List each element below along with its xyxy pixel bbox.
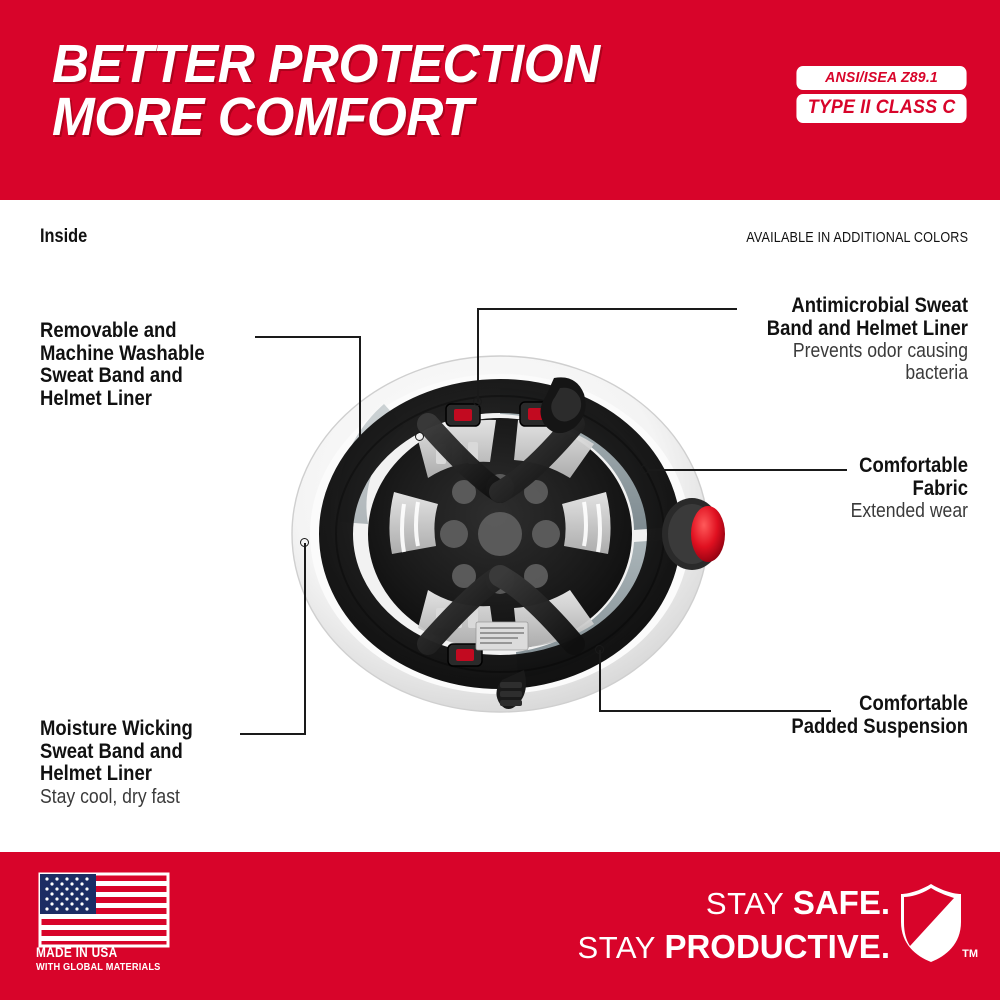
- leader-dot-removable: [415, 432, 424, 441]
- badge-ansi-standard: ANSI/ISEA Z89.1: [796, 66, 966, 90]
- made-in-usa-sublabel: WITH GLOBAL MATERIALS: [36, 962, 168, 973]
- callout-suspension-title: Comfortable Padded Suspension: [651, 693, 968, 738]
- leader-dot-fabric: [640, 465, 649, 474]
- slogan-line-2-light: STAY: [578, 930, 665, 965]
- view-label: Inside: [40, 226, 87, 248]
- slogan-line-1-light: STAY: [706, 886, 793, 921]
- callout-removable-title: Removable and Machine Washable Sweat Ban…: [40, 320, 304, 410]
- shield-icon: [898, 882, 964, 964]
- callout-suspension: Comfortable Padded Suspension: [608, 693, 968, 738]
- page-title: BETTER PROTECTION MORE COMFORT: [52, 38, 600, 144]
- footer-banner: MADE IN USA WITH GLOBAL MATERIALS STAY S…: [0, 852, 1000, 1000]
- slogan-line-1-bold: SAFE.: [793, 884, 890, 921]
- trademark-symbol: TM: [962, 948, 978, 960]
- leader-line-suspension-v: [599, 650, 601, 712]
- callout-removable: Removable and Machine Washable Sweat Ban…: [40, 320, 340, 410]
- slogan-line-1: STAY SAFE.: [578, 884, 890, 928]
- leader-line-antimicrobial-v: [477, 308, 479, 402]
- available-colors-note: AVAILABLE IN ADDITIONAL COLORS: [746, 229, 968, 246]
- certification-badges: ANSI/ISEA Z89.1 TYPE II CLASS C: [791, 66, 972, 123]
- callout-moisture-sub: Stay cool, dry fast: [40, 786, 304, 808]
- callout-antimicrobial: Antimicrobial Sweat Band and Helmet Line…: [638, 295, 968, 384]
- leader-line-removable-v: [359, 336, 361, 437]
- callout-antimicrobial-title: Antimicrobial Sweat Band and Helmet Line…: [678, 295, 968, 340]
- header-banner: BETTER PROTECTION MORE COMFORT ANSI/ISEA…: [0, 0, 1000, 200]
- slogan-line-2-bold: PRODUCTIVE.: [664, 928, 890, 965]
- callout-fabric: Comfortable Fabric Extended wear: [668, 455, 968, 522]
- callout-fabric-title: Comfortable Fabric: [704, 455, 968, 500]
- callout-moisture-title: Moisture Wicking Sweat Band and Helmet L…: [40, 718, 304, 786]
- callout-antimicrobial-sub: Prevents odor causing bacteria: [678, 340, 968, 384]
- leader-line-moisture-v: [304, 543, 306, 735]
- badge-type-class: TYPE II CLASS C: [796, 94, 966, 123]
- product-infographic: BETTER PROTECTION MORE COMFORT ANSI/ISEA…: [0, 0, 1000, 1000]
- footer-slogan: STAY SAFE. STAY PRODUCTIVE.: [578, 884, 890, 972]
- callout-moisture: Moisture Wicking Sweat Band and Helmet L…: [40, 718, 340, 808]
- slogan-line-2: STAY PRODUCTIVE.: [578, 928, 890, 972]
- made-in-usa-label: MADE IN USA: [36, 946, 159, 960]
- callout-fabric-sub: Extended wear: [704, 500, 968, 522]
